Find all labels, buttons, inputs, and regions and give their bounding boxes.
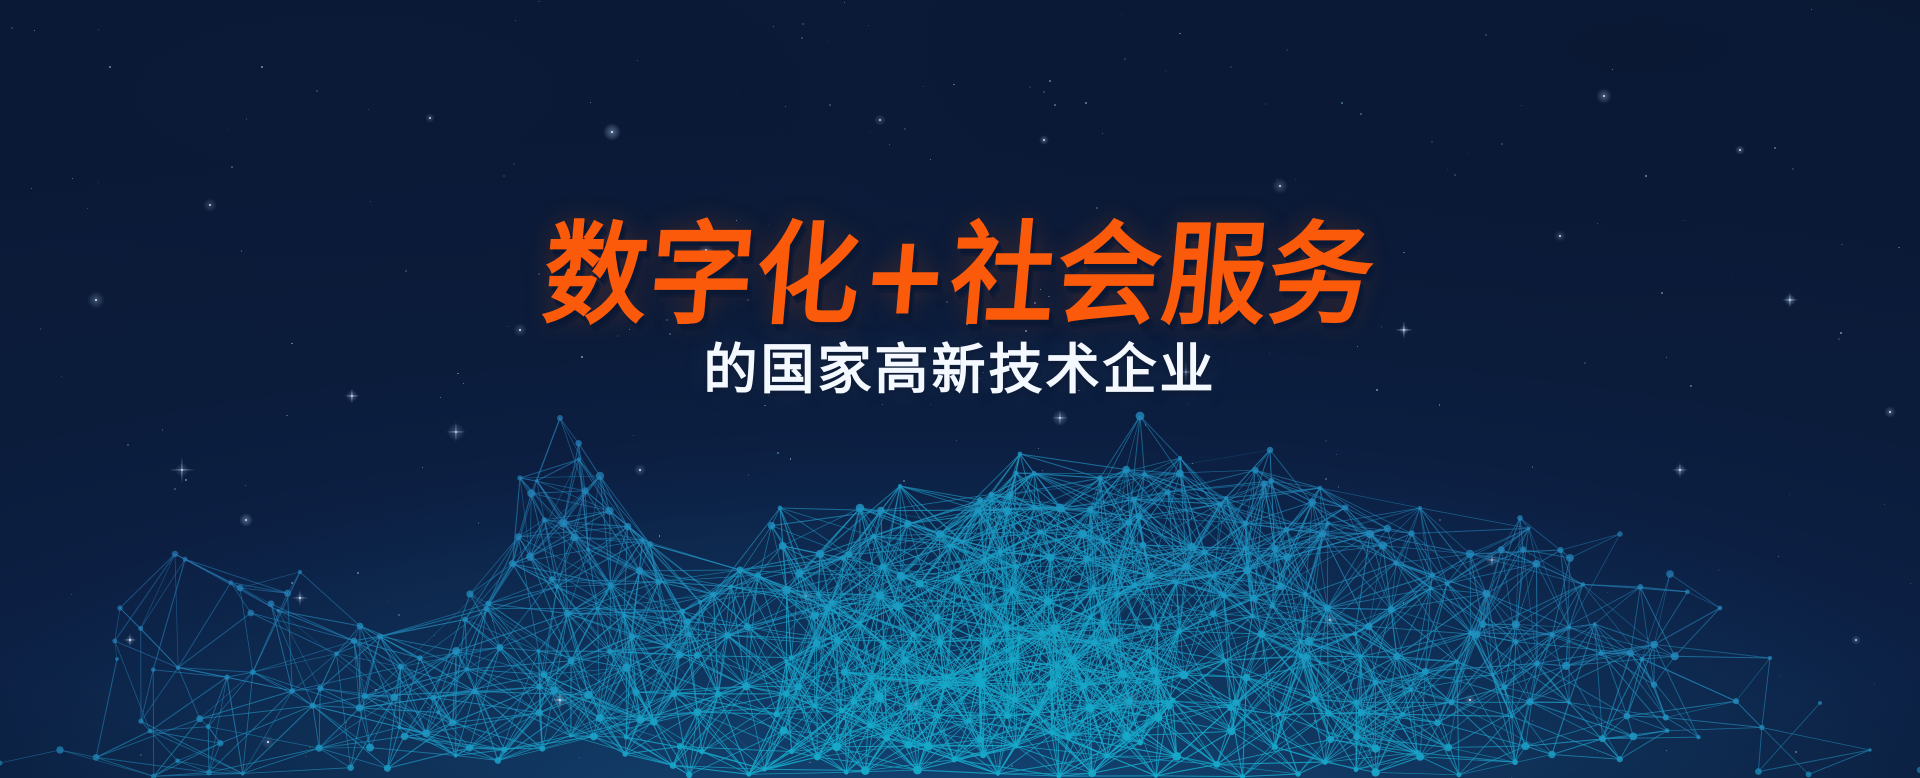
hero-banner: 数字化+社会服务 的国家高新技术企业	[0, 0, 1920, 778]
vignette-overlay	[0, 0, 1920, 778]
